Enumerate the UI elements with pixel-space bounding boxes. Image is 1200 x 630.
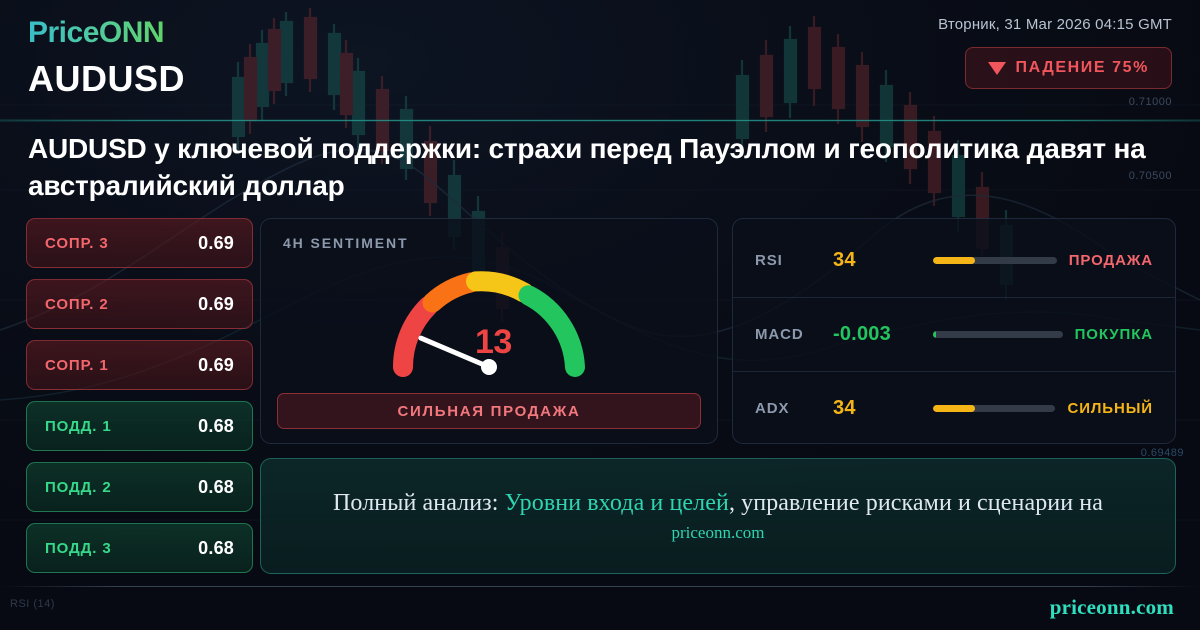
indicator-name: MACD — [755, 326, 833, 343]
level-label: СОПР. 3 — [45, 235, 109, 252]
level-label: ПОДД. 2 — [45, 479, 112, 496]
indicator-fill — [933, 405, 975, 412]
sentiment-verdict-badge: СИЛЬНАЯ ПРОДАЖА — [277, 393, 701, 429]
indicator-signal: ПРОДАЖА — [1069, 252, 1153, 269]
indicator-fill — [933, 331, 936, 338]
level-row: СОПР. 2 0.69 — [26, 279, 253, 329]
level-value: 0.69 — [198, 233, 234, 254]
level-value: 0.69 — [198, 294, 234, 315]
indicator-track — [933, 405, 1055, 412]
footer-divider — [0, 586, 1200, 587]
level-row: ПОДД. 3 0.68 — [26, 523, 253, 573]
indicator-value: 34 — [833, 397, 921, 420]
sentiment-panel-title: 4H SENTIMENT — [283, 235, 408, 251]
indicator-signal: ПОКУПКА — [1075, 326, 1153, 343]
gauge-segment-buy — [529, 295, 576, 367]
trend-badge: ПАДЕНИЕ 75% — [965, 47, 1172, 89]
bg-rsi-watermark: RSI (14) — [10, 598, 55, 610]
level-label: ПОДД. 3 — [45, 540, 112, 557]
level-value: 0.68 — [198, 538, 234, 559]
gauge-segment-sell — [433, 282, 472, 302]
headline: AUDUSD у ключевой поддержки: страхи пере… — [28, 130, 1172, 204]
timestamp: Вторник, 31 Mar 2026 04:15 GMT — [938, 16, 1172, 33]
sentiment-panel: 4H SENTIMENT 13 СИЛЬНАЯ ПРОДАЖА — [260, 218, 718, 444]
cta-text-before: Полный анализ: — [333, 490, 505, 516]
indicator-name: ADX — [755, 400, 833, 417]
sentiment-score: 13 — [475, 323, 512, 362]
indicator-row-adx: ADX 34 СИЛЬНЫЙ — [733, 371, 1175, 445]
level-label: СОПР. 1 — [45, 357, 109, 374]
level-label: ПОДД. 1 — [45, 418, 112, 435]
indicator-track — [933, 257, 1057, 264]
level-row: ПОДД. 1 0.68 — [26, 401, 253, 451]
header-right-block: Вторник, 31 Mar 2026 04:15 GMT ПАДЕНИЕ 7… — [938, 16, 1172, 89]
header-divider — [0, 120, 1200, 121]
trend-badge-label: ПАДЕНИЕ 75% — [1015, 59, 1149, 77]
indicator-row-macd: MACD -0.003 ПОКУПКА — [733, 297, 1175, 371]
indicator-signal: СИЛЬНЫЙ — [1067, 400, 1153, 417]
sentiment-verdict-label: СИЛЬНАЯ ПРОДАЖА — [398, 403, 581, 420]
level-row: СОПР. 3 0.69 — [26, 218, 253, 268]
level-row: ПОДД. 2 0.68 — [26, 462, 253, 512]
indicator-row-rsi: RSI 34 ПРОДАЖА — [733, 223, 1175, 297]
level-value: 0.69 — [198, 355, 234, 376]
brand-logo: PriceONN — [28, 16, 164, 49]
cta-link[interactable]: Уровни входа и целей — [505, 490, 729, 516]
footer-brand[interactable]: priceonn.com — [1050, 595, 1174, 620]
indicators-panel: RSI 34 ПРОДАЖА MACD -0.003 ПОКУПКА ADX 3… — [732, 218, 1176, 444]
level-value: 0.68 — [198, 477, 234, 498]
gauge-segment-strong-sell — [403, 306, 428, 367]
levels-list: СОПР. 3 0.69 СОПР. 2 0.69 СОПР. 1 0.69 П… — [26, 218, 253, 584]
cta-text-after: , управление рисками и сценарии на — [729, 490, 1103, 516]
indicator-name: RSI — [755, 252, 833, 269]
cta-text: Полный анализ: Уровни входа и целей, упр… — [333, 490, 1103, 517]
cta-domain[interactable]: priceonn.com — [672, 523, 765, 543]
caret-down-icon — [988, 62, 1006, 75]
level-row: СОПР. 1 0.69 — [26, 340, 253, 390]
cta-banner[interactable]: Полный анализ: Уровни входа и целей, упр… — [260, 458, 1176, 574]
level-label: СОПР. 2 — [45, 296, 109, 313]
poster-canvas: 0.71000 0.70500 0.69489 RSI (14) PriceON… — [0, 0, 1200, 630]
gauge-segment-neutral — [476, 281, 524, 292]
indicator-fill — [933, 257, 975, 264]
level-value: 0.68 — [198, 416, 234, 437]
indicator-track — [933, 331, 1063, 338]
poster-header: PriceONN AUDUSD Вторник, 31 Mar 2026 04:… — [28, 16, 1172, 116]
indicator-value: 34 — [833, 249, 921, 272]
indicator-value: -0.003 — [833, 323, 921, 346]
